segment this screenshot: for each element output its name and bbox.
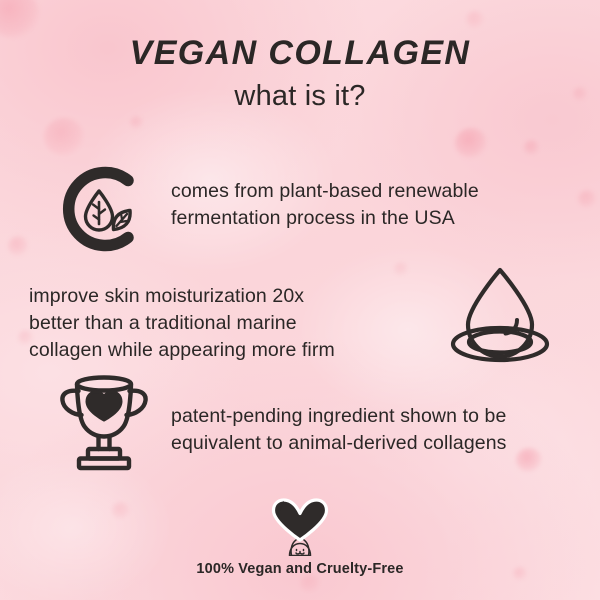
cruelty-free-bunny-heart-icon: cruelty xyxy=(265,498,335,561)
background-blob xyxy=(455,128,487,158)
background-blob xyxy=(578,190,596,208)
trophy-heart-icon xyxy=(54,371,154,476)
poster-canvas: VEGAN COLLAGEN what is it? comes fr xyxy=(0,0,600,600)
background-blob xyxy=(516,448,542,472)
footer-claim-text: 100% Vegan and Cruelty-Free xyxy=(0,561,600,577)
background-blob xyxy=(130,116,143,129)
background-blob xyxy=(8,236,28,256)
page-title: VEGAN COLLAGEN xyxy=(0,34,600,73)
collagen-c-plant-icon xyxy=(52,161,148,262)
background-blob xyxy=(112,502,130,519)
feature-text-plant-based: comes from plant-based renewable ferment… xyxy=(171,178,479,232)
page-subtitle: what is it? xyxy=(0,80,600,113)
background-blob xyxy=(466,11,484,28)
background-blob xyxy=(394,262,408,276)
feature-text-patent-pending: patent-pending ingredient shown to be eq… xyxy=(171,403,507,457)
background-blob xyxy=(44,118,84,156)
background-blob xyxy=(524,140,539,155)
feature-text-moisturization: improve skin moisturization 20x better t… xyxy=(29,283,335,364)
water-droplet-ripple-icon xyxy=(446,258,554,375)
